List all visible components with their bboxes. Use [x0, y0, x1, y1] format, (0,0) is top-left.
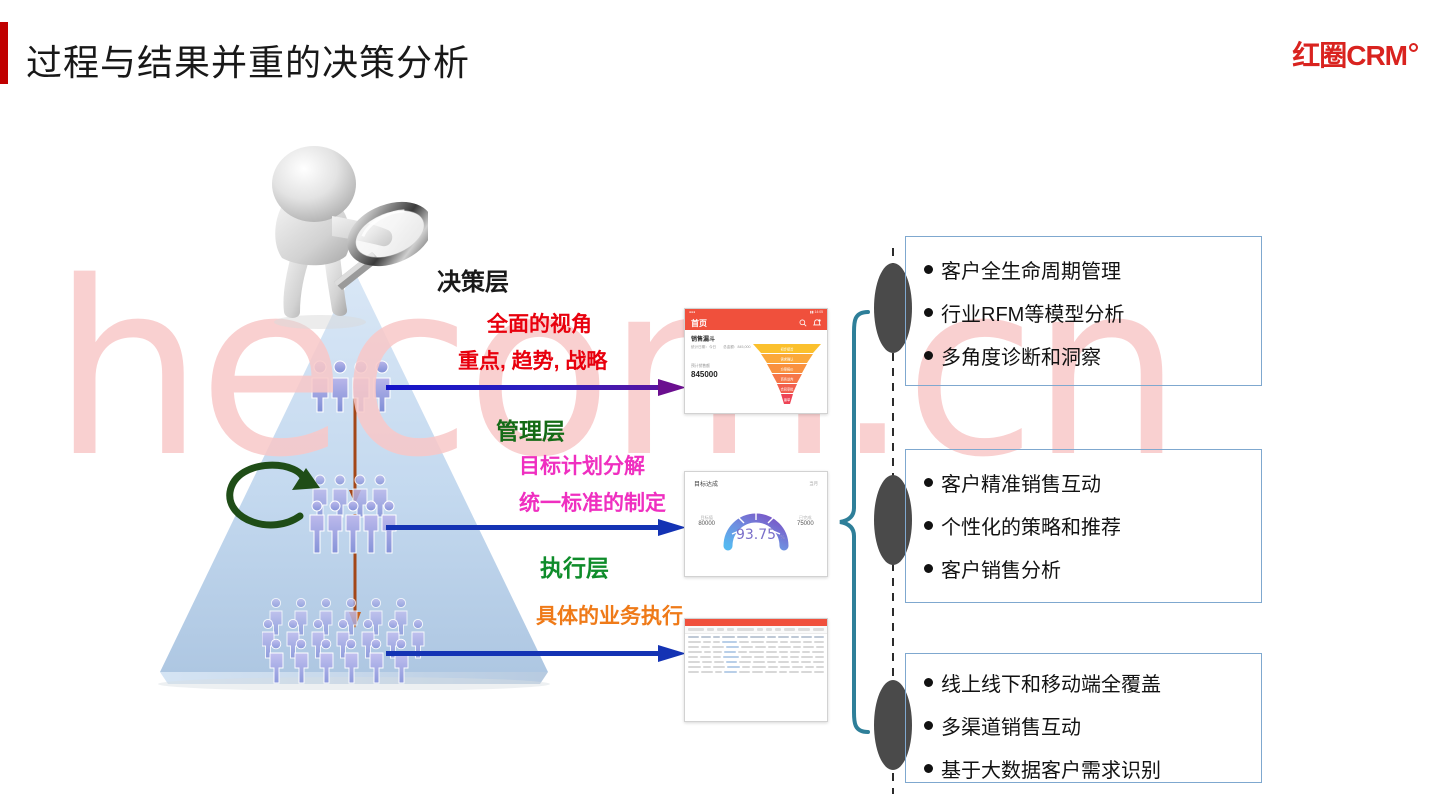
gauge-percent-suffix: %: [780, 535, 785, 541]
gauge-percent-text: 93.75: [736, 527, 776, 543]
feedback-loop-arrow-icon: [218, 450, 328, 540]
svg-text:方案报价: 方案报价: [781, 367, 795, 372]
title-accent-bar: [0, 22, 8, 84]
gauge-target: 目标值 80000: [698, 515, 715, 527]
table-row[interactable]: [688, 646, 824, 648]
list-item-label: 行业RFM等模型分析: [941, 298, 1124, 327]
bullet-dot-icon: [924, 678, 933, 687]
list-item-label: 个性化的策略和推荐: [941, 511, 1121, 540]
table-row[interactable]: [688, 661, 824, 663]
screenshot-mobile-funnel[interactable]: ●●● ▮▮ 14:05 首页 销售漏斗 统计日期：今日 总金额：845,000: [684, 308, 828, 414]
grouping-brace: [836, 308, 872, 743]
svg-text:初步接洽: 初步接洽: [781, 347, 795, 352]
layer-note-management-1: 目标计划分解: [519, 450, 645, 480]
table-row[interactable]: [688, 666, 824, 668]
flow-arrow-decision: [386, 378, 686, 403]
notification-bell-icon[interactable]: [813, 319, 821, 327]
gauge-chart: 93.75 %: [719, 490, 793, 552]
info-box-management-capabilities: 客户精准销售互动 个性化的策略和推荐 客户销售分析: [905, 449, 1262, 603]
bullet-dot-icon: [924, 721, 933, 730]
table-app-header: [685, 619, 827, 626]
gauge-target-value: 80000: [698, 521, 715, 527]
funnel-chart: 初步接洽 需求确认 方案报价 商务谈判 合同审批 赢单: [751, 344, 823, 406]
logo-text-cn: 红圈: [1292, 42, 1346, 70]
layer-title-execution: 执行层: [540, 549, 609, 583]
layer-title-management: 管理层: [496, 412, 565, 446]
list-item-label: 基于大数据客户需求识别: [941, 754, 1161, 783]
funnel-card-title: 销售漏斗: [691, 334, 821, 343]
funnel-meta-1: 总金额：845,000: [723, 345, 750, 350]
gauge-period-label: 当月: [809, 481, 818, 487]
gauge-card-header: 目标达成 当月: [685, 472, 827, 488]
list-item-label: 客户精准销售互动: [941, 468, 1101, 497]
gauge-body: 目标值 80000: [685, 488, 827, 552]
people-group-execution-icon: [262, 596, 426, 684]
list-item-label: 线上线下和移动端全覆盖: [941, 668, 1161, 697]
bullet-list: 客户精准销售互动 个性化的策略和推荐 客户销售分析: [906, 450, 1261, 583]
people-group-decision-icon: [310, 358, 392, 414]
table-row[interactable]: [688, 651, 824, 653]
logo-text-en: CRM: [1346, 42, 1407, 70]
flow-arrow-management: [386, 518, 686, 543]
bullet-dot-icon: [924, 764, 933, 773]
phone-status-bar: ●●● ▮▮ 14:05: [685, 309, 827, 316]
table-row[interactable]: [688, 641, 824, 643]
phone-content: 销售漏斗 统计日期：今日 总金额：845,000 总数量：9,68 预计销售额 …: [685, 330, 827, 409]
gauge-achieved: 已完成 75000: [797, 515, 814, 527]
info-box-execution-capabilities: 线上线下和移动端全覆盖 多渠道销售互动 基于大数据客户需求识别: [905, 653, 1262, 783]
status-right: ▮▮ 14:05: [810, 309, 823, 316]
page-title: 过程与结果并重的决策分析: [26, 34, 470, 86]
bullet-list: 线上线下和移动端全覆盖 多渠道销售互动 基于大数据客户需求识别: [906, 654, 1261, 783]
list-item: 行业RFM等模型分析: [924, 298, 1261, 327]
list-item-label: 多渠道销售互动: [941, 711, 1081, 740]
screenshot-desktop-table[interactable]: [684, 618, 828, 722]
slide-canvas: 过程与结果并重的决策分析 红圈 CRM hecom.cn: [0, 0, 1440, 810]
phone-nav-title: 首页: [691, 318, 707, 329]
bullet-dot-icon: [924, 265, 933, 274]
search-icon[interactable]: [799, 319, 807, 327]
list-item: 客户全生命周期管理: [924, 255, 1261, 284]
status-left: ●●●: [689, 309, 695, 316]
table-toolbar[interactable]: [685, 626, 827, 634]
gauge-achieved-value: 75000: [797, 521, 814, 527]
bullet-dot-icon: [924, 521, 933, 530]
table-header-row: [688, 636, 824, 638]
bullet-list: 客户全生命周期管理 行业RFM等模型分析 多角度诊断和洞察: [906, 237, 1261, 370]
funnel-meta-0: 统计日期：今日: [691, 345, 716, 350]
bullet-dot-icon: [924, 308, 933, 317]
list-item-label: 客户全生命周期管理: [941, 255, 1121, 284]
svg-text:合同审批: 合同审批: [781, 387, 795, 392]
list-item: 客户精准销售互动: [924, 468, 1261, 497]
svg-text:商务谈判: 商务谈判: [781, 377, 794, 382]
table-row[interactable]: [688, 656, 824, 658]
bullet-dot-icon: [924, 351, 933, 360]
table-rows: [685, 634, 827, 678]
screenshot-mobile-gauge[interactable]: 目标达成 当月 目标值 80000: [684, 471, 828, 577]
phone-nav-icons: [799, 319, 821, 327]
svg-text:赢单: 赢单: [784, 397, 791, 402]
list-item: 客户销售分析: [924, 554, 1261, 583]
layer-title-decision: 决策层: [437, 262, 509, 297]
list-item-label: 客户销售分析: [941, 554, 1061, 583]
list-item: 多角度诊断和洞察: [924, 341, 1261, 370]
bullet-dot-icon: [924, 564, 933, 573]
list-item: 线上线下和移动端全覆盖: [924, 668, 1261, 697]
layer-note-execution-1: 具体的业务执行: [536, 600, 683, 630]
list-item: 多渠道销售互动: [924, 711, 1261, 740]
layer-note-management-2: 统一标准的制定: [519, 487, 666, 517]
phone-nav-bar: 首页: [685, 316, 827, 330]
table-row[interactable]: [688, 671, 824, 673]
layer-note-decision-2: 重点, 趋势, 战略: [458, 345, 607, 375]
list-item: 个性化的策略和推荐: [924, 511, 1261, 540]
brand-logo: 红圈 CRM: [1292, 42, 1418, 70]
bullet-dot-icon: [924, 478, 933, 487]
flow-arrow-execution: [386, 644, 686, 669]
svg-text:需求确认: 需求确认: [781, 357, 795, 362]
gauge-card-title: 目标达成: [694, 479, 718, 488]
layer-note-decision-1: 全面的视角: [487, 308, 592, 338]
list-item-label: 多角度诊断和洞察: [941, 341, 1101, 370]
list-item: 基于大数据客户需求识别: [924, 754, 1261, 783]
info-box-decision-capabilities: 客户全生命周期管理 行业RFM等模型分析 多角度诊断和洞察: [905, 236, 1262, 386]
degree-circle-icon: [1409, 43, 1418, 52]
analyst-figure-with-magnifier-icon: [238, 140, 428, 330]
